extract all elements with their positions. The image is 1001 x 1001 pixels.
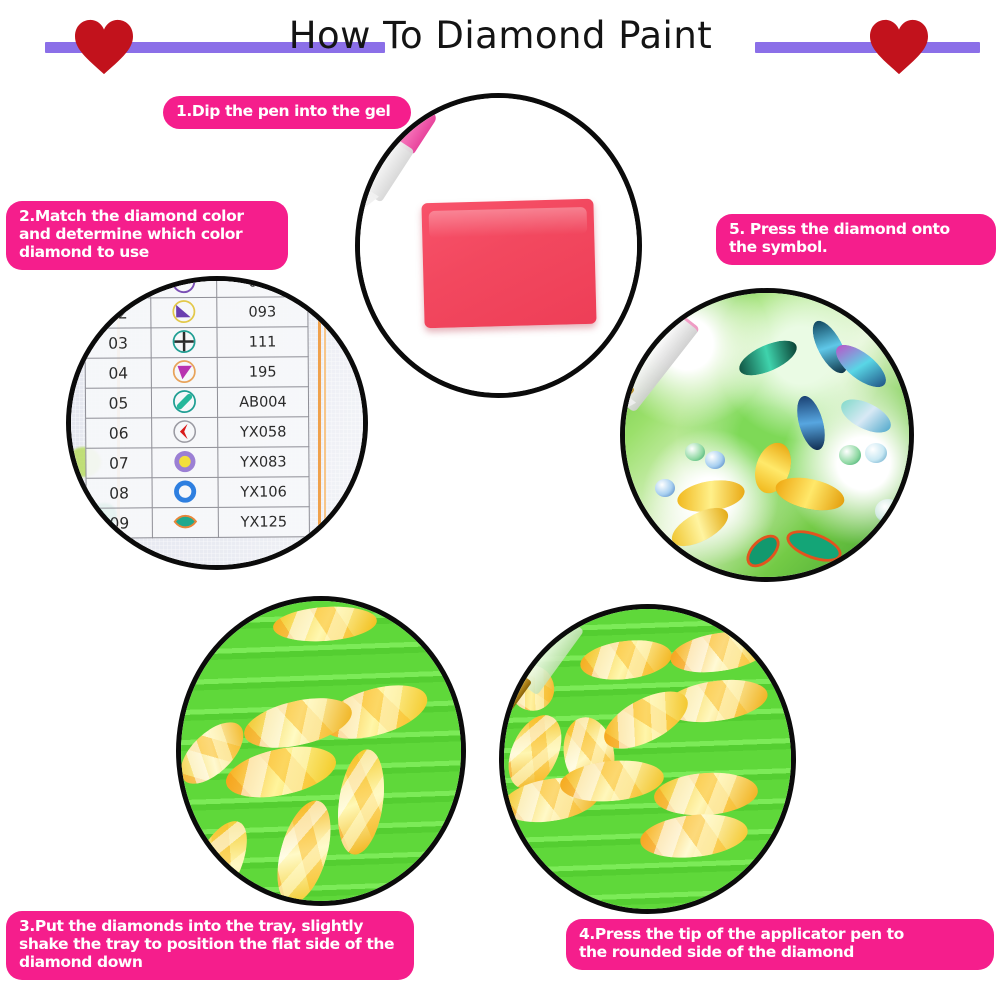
chart-code: 020: [216, 276, 307, 297]
canvas-guide-line-right-faint: [324, 276, 326, 570]
gem-leaf-green: [782, 524, 845, 568]
table-row: 02 093: [85, 297, 308, 329]
table-row: 020: [85, 276, 308, 298]
step-5-scene: [625, 293, 909, 577]
gem-leaf-green: [740, 528, 785, 573]
gem-round: [865, 443, 887, 463]
step-3-scene: [181, 601, 461, 901]
chart-symbol-double-dot-circle-purple: [151, 276, 217, 298]
chart-index: 05: [85, 388, 151, 418]
chart-code: YX058: [218, 417, 309, 448]
triangle-purple-icon: [151, 299, 216, 326]
chart-symbol-leaf-teal-orange: [152, 507, 218, 537]
gem-round: [839, 445, 861, 465]
slash-teal-icon: [152, 389, 217, 416]
table-row: 06 YX058: [86, 417, 309, 449]
step-2-label: 2.Match the diamond color and determine …: [6, 201, 288, 270]
table-row: 08 YX106: [86, 477, 309, 509]
color-chart-table: 020 02 093 03: [84, 276, 310, 539]
step-5-label: 5. Press the diamond onto the symbol.: [716, 214, 996, 265]
plus-teal-icon: [151, 329, 216, 356]
chart-index: 04: [85, 358, 151, 388]
chart-symbol-chevron-red: [152, 417, 218, 447]
step-4-scene: [504, 609, 791, 909]
chart-index: 09: [86, 508, 152, 538]
photo-step-1-dip-pen-in-gel: [355, 93, 642, 398]
canvas-guide-line-right: [318, 276, 321, 570]
photo-step-2-color-chart: 020 02 093 03: [66, 276, 368, 570]
gem-dark: [734, 334, 801, 383]
dot-yellow-purple-icon: [152, 449, 217, 476]
gem-round: [685, 443, 705, 461]
gem-round: [655, 479, 675, 497]
chart-symbol-dot-yellow-purple: [152, 447, 218, 477]
gem-dark: [792, 393, 831, 453]
chevron-red-icon: [152, 419, 217, 446]
ring-blue-icon: [152, 479, 217, 506]
chart-code: AB004: [217, 387, 308, 418]
chart-index: 03: [85, 328, 151, 358]
chart-index: 08: [86, 478, 152, 508]
gel-pad: [421, 199, 596, 328]
chart-code: 111: [217, 327, 308, 358]
table-row: 09 YX125: [86, 507, 309, 539]
table-row: 07 YX083: [86, 447, 309, 479]
chart-code: YX106: [218, 477, 309, 508]
step-3-label: 3.Put the diamonds into the tray, slight…: [6, 911, 414, 980]
step-2-scene: 020 02 093 03: [71, 281, 363, 565]
table-row: 04 195: [85, 357, 308, 389]
gem-round: [875, 499, 901, 523]
chart-index: 06: [86, 418, 152, 448]
chart-symbol-ring-blue: [152, 477, 218, 507]
table-row: 05 AB004: [85, 387, 308, 419]
chart-symbol-triangle-purple: [151, 297, 217, 327]
step-1-scene: [360, 98, 637, 393]
page-header: How To Diamond Paint: [0, 0, 1001, 90]
chart-code: 195: [217, 357, 308, 388]
chart-index: [85, 276, 151, 298]
photo-step-3-diamonds-in-tray: [176, 596, 466, 906]
chart-index: 02: [85, 298, 151, 328]
gem-ab: [836, 392, 896, 439]
chart-code: 093: [217, 297, 308, 328]
leaf-teal-orange-icon: [153, 509, 218, 536]
chart-index: 07: [86, 448, 152, 478]
gem-round: [705, 451, 725, 469]
chart-code: YX125: [218, 507, 309, 538]
chart-symbol-triangle-magenta: [151, 357, 217, 387]
table-row: 03 111: [85, 327, 308, 359]
step-4-label: 4.Press the tip of the applicator pen to…: [566, 919, 994, 970]
chart-code: YX083: [218, 447, 309, 478]
triangle-magenta-icon: [152, 359, 217, 386]
double-dot-circle-purple-icon: [151, 276, 216, 296]
photo-step-5-press-diamond-onto-symbol: [620, 288, 914, 582]
photo-step-4-press-pen-on-diamond: [499, 604, 796, 914]
gem-round: [873, 527, 901, 553]
chart-symbol-plus-teal: [151, 327, 217, 357]
chart-symbol-slash-teal: [151, 387, 217, 417]
page-title: How To Diamond Paint: [0, 14, 1001, 57]
